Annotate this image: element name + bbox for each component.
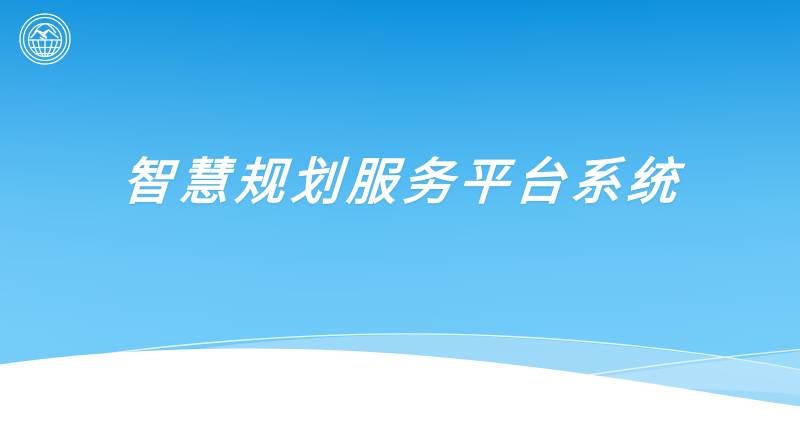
page-title: 智慧规划服务平台系统 <box>115 150 685 214</box>
title-slide: 智慧规划服务平台系统 <box>0 0 800 430</box>
title-container: 智慧规划服务平台系统 <box>0 150 800 214</box>
handshake-globe-emblem-icon <box>18 12 72 66</box>
wave-decoration <box>0 0 800 430</box>
